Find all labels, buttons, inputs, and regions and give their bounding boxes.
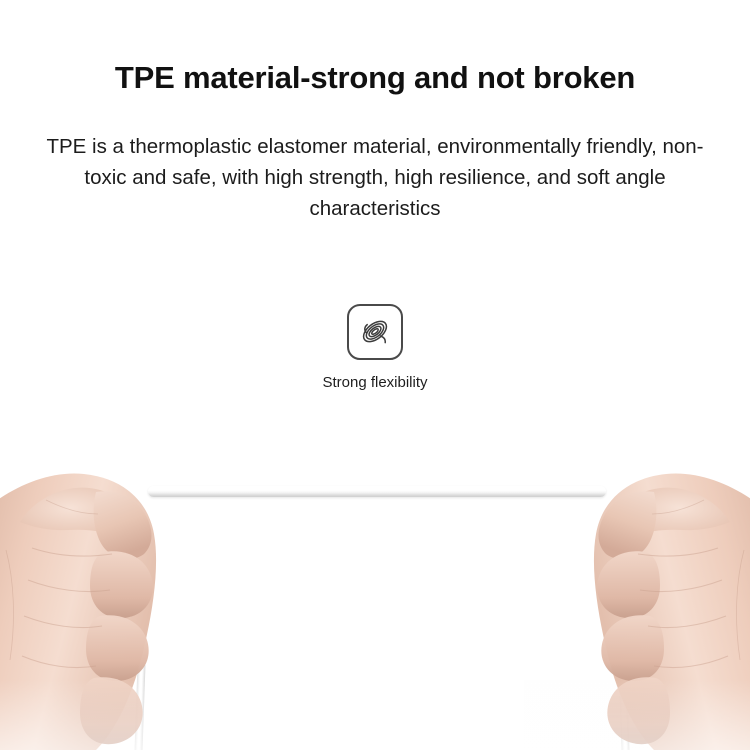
- right-fist: [524, 430, 750, 750]
- feature-caption: Strong flexibility: [0, 373, 750, 392]
- product-feature-page: TPE material-strong and not broken TPE i…: [0, 0, 750, 750]
- feature-block: Strong flexibility: [0, 304, 750, 392]
- left-fist: [0, 430, 226, 750]
- product-photo: [0, 430, 750, 750]
- page-title: TPE material-strong and not broken: [0, 58, 750, 98]
- coiled-cable-icon: [347, 304, 403, 360]
- description-text: TPE is a thermoplastic elastomer materia…: [38, 131, 712, 224]
